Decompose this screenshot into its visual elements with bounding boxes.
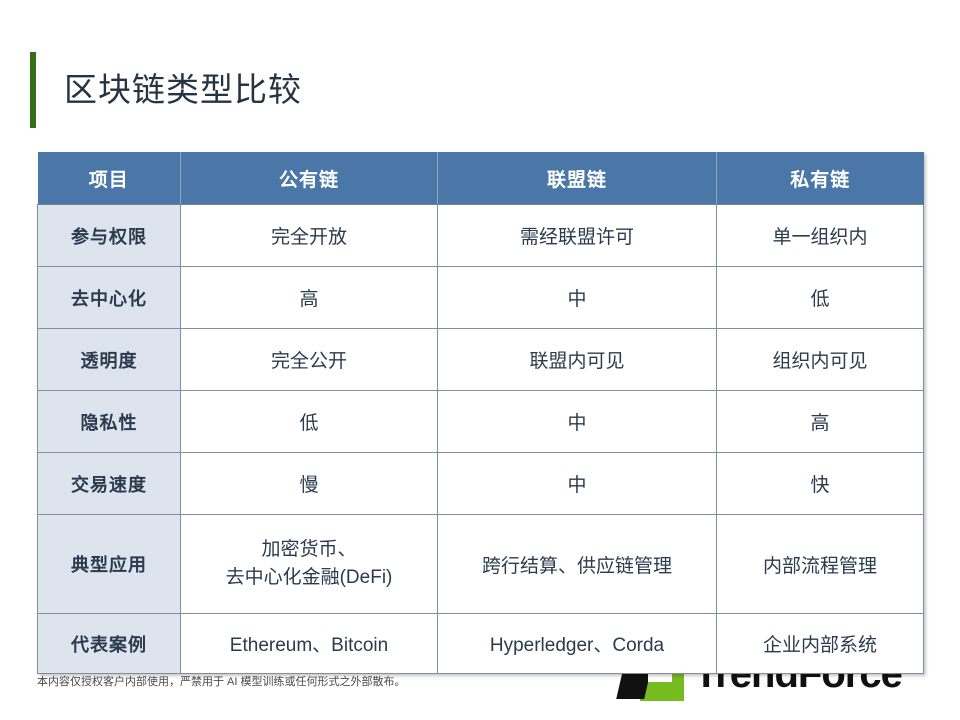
- title-accent-bar: [30, 52, 36, 128]
- blockchain-comparison-table: 项目 公有链 联盟链 私有链 参与权限 完全开放 需经联盟许可 单一组织内 去中…: [37, 152, 924, 674]
- disclaimer-line-2: 本内容仅授权客户内部使用，严禁用于 AI 模型训练或任何形式之外部散布。: [37, 673, 499, 692]
- cell-public-line2: 去中心化金融(DeFi): [187, 564, 431, 592]
- row-label: 去中心化: [38, 267, 181, 329]
- table-row: 参与权限 完全开放 需经联盟许可 单一组织内: [38, 205, 924, 267]
- cell-public: 慢: [181, 453, 438, 515]
- table-header-row: 项目 公有链 联盟链 私有链: [38, 152, 924, 205]
- row-label: 透明度: [38, 329, 181, 391]
- cell-public: 高: [181, 267, 438, 329]
- cell-consortium: 中: [438, 391, 717, 453]
- table-row: 典型应用 加密货币、 去中心化金融(DeFi) 跨行结算、供应链管理 内部流程管…: [38, 515, 924, 614]
- row-label: 隐私性: [38, 391, 181, 453]
- cell-private: 组织内可见: [717, 329, 924, 391]
- cell-consortium: 中: [438, 453, 717, 515]
- cell-public: 完全开放: [181, 205, 438, 267]
- cell-private: 内部流程管理: [717, 515, 924, 614]
- cell-private: 企业内部系统: [717, 614, 924, 674]
- column-header-item: 项目: [38, 152, 181, 205]
- cell-public: Ethereum、Bitcoin: [181, 614, 438, 674]
- cell-public: 完全公开: [181, 329, 438, 391]
- column-header-consortium-chain: 联盟链: [438, 152, 717, 205]
- cell-private: 高: [717, 391, 924, 453]
- table-row: 透明度 完全公开 联盟内可见 组织内可见: [38, 329, 924, 391]
- column-header-private-chain: 私有链: [717, 152, 924, 205]
- row-label: 参与权限: [38, 205, 181, 267]
- cell-public: 加密货币、 去中心化金融(DeFi): [181, 515, 438, 614]
- cell-public-line1: 加密货币、: [187, 536, 431, 564]
- cell-consortium: 需经联盟许可: [438, 205, 717, 267]
- row-label: 典型应用: [38, 515, 181, 614]
- table-row: 去中心化 高 中 低: [38, 267, 924, 329]
- cell-public: 低: [181, 391, 438, 453]
- table-row: 交易速度 慢 中 快: [38, 453, 924, 515]
- cell-private: 快: [717, 453, 924, 515]
- row-label: 交易速度: [38, 453, 181, 515]
- cell-consortium: 中: [438, 267, 717, 329]
- cell-private: 单一组织内: [717, 205, 924, 267]
- slide-title-block: 区块链类型比较: [30, 52, 302, 128]
- cell-consortium: 跨行结算、供应链管理: [438, 515, 717, 614]
- cell-private: 低: [717, 267, 924, 329]
- table-row: 隐私性 低 中 高: [38, 391, 924, 453]
- table-row: 代表案例 Ethereum、Bitcoin Hyperledger、Corda …: [38, 614, 924, 674]
- column-header-public-chain: 公有链: [181, 152, 438, 205]
- page-title: 区块链类型比较: [64, 72, 302, 108]
- cell-consortium: 联盟内可见: [438, 329, 717, 391]
- row-label: 代表案例: [38, 614, 181, 674]
- cell-consortium: Hyperledger、Corda: [438, 614, 717, 674]
